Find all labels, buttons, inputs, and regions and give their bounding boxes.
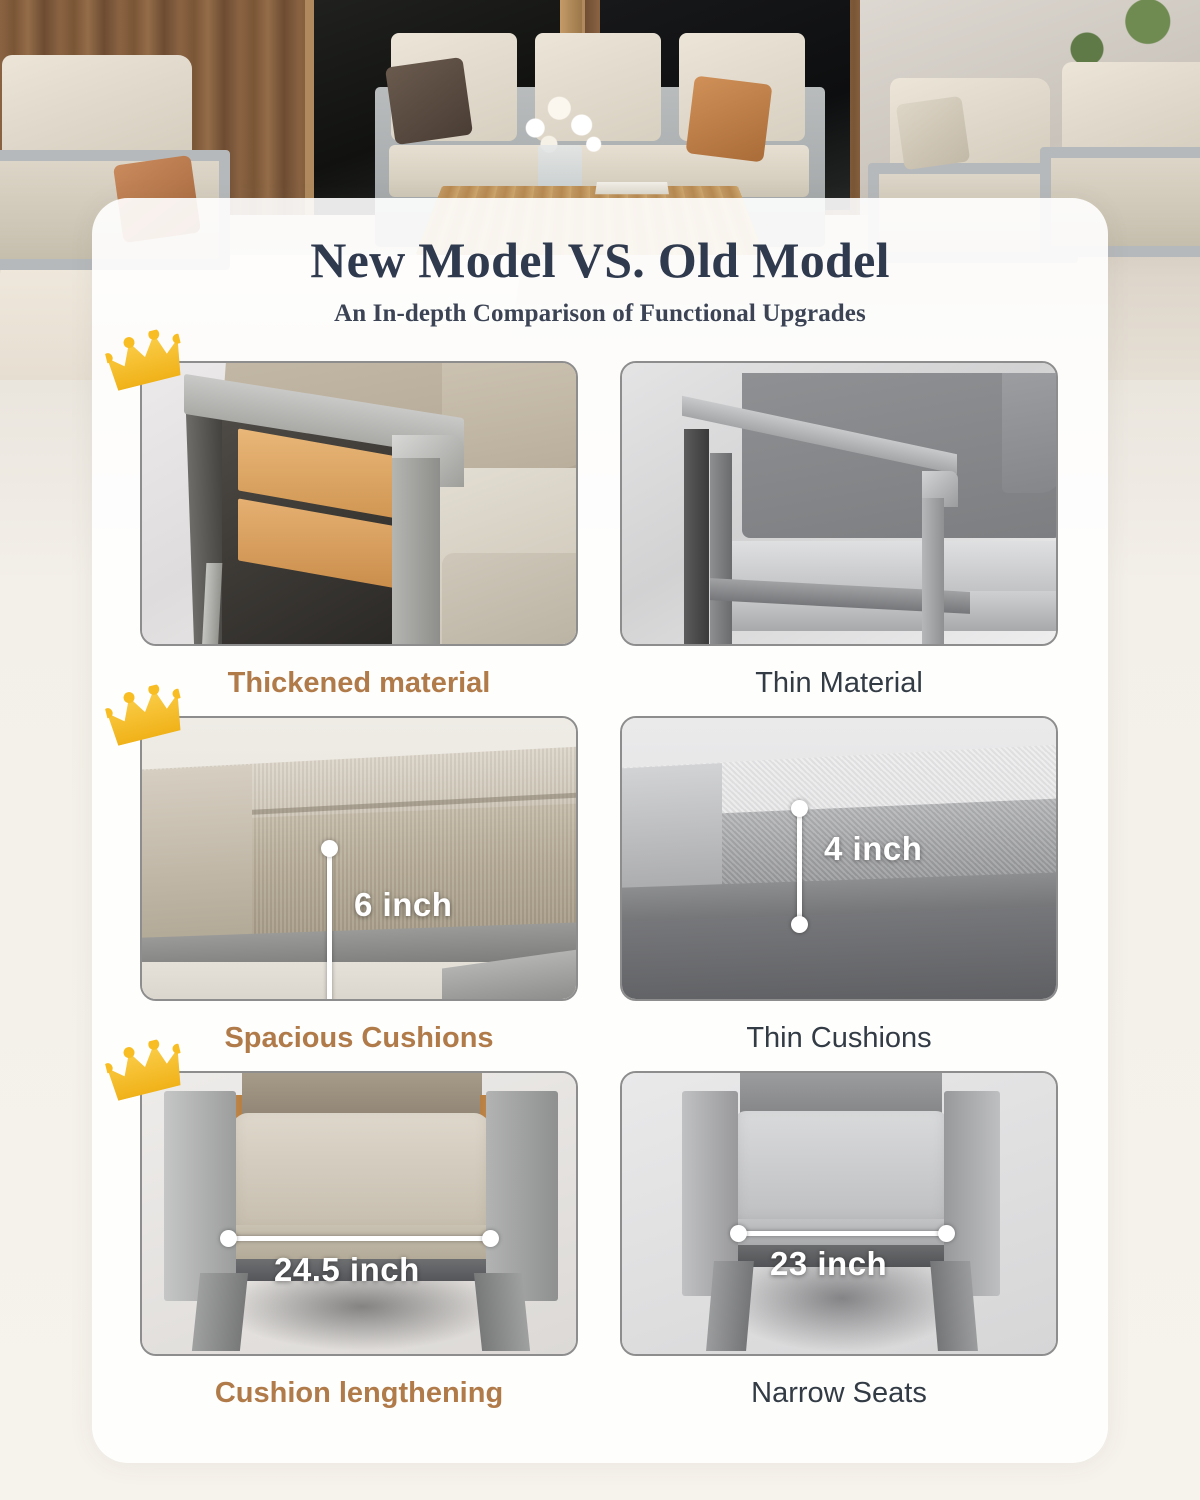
seat-cushion-front [226,1225,494,1263]
image-old-model-seat-front[interactable]: 23 inch [620,1071,1058,1356]
seat-cushion [232,1113,490,1241]
background-pillow-beige [896,96,971,171]
caption-new-seat-width: Cushion lengthening [140,1378,578,1410]
image-old-model-cushion[interactable]: 4 inch [620,716,1058,1001]
image-new-model-seat-front[interactable]: 24.5 inch [140,1071,578,1356]
comparison-row-seat-width: 24.5 inch Cushion lengthening [92,1071,1108,1426]
infographic-root: New Model VS. Old Model An In-depth Comp… [0,0,1200,1500]
comparison-grid: Thickened material [92,361,1108,1426]
cell-old-cushions[interactable]: 4 inch Thin Cushions [620,716,1058,1055]
chair-leg-right [930,1261,978,1351]
chair-leg-right [474,1273,530,1351]
backrest-cushion-right [1002,373,1058,493]
page-subtitle: An In-depth Comparison of Functional Upg… [92,300,1108,328]
chair-leg-left [706,1261,754,1351]
frame-apron [226,1259,494,1281]
aluminum-arm-right [486,1091,558,1301]
chair-leg-left [192,1273,248,1351]
drop-shadow [722,1263,962,1351]
seat-cushion-front [442,553,578,646]
aluminum-arm-post [392,458,440,646]
cushion-left-block [620,763,722,899]
frame-inner-bar [710,453,732,646]
image-new-model-arm[interactable] [140,361,578,646]
frame-apron [726,1245,956,1267]
aluminum-arm-post [922,498,944,646]
caption-new-material: Thickened material [140,668,578,700]
cell-new-cushions[interactable]: 6 inch Spacious Cushions [140,716,578,1055]
background-pillow-dark [385,57,473,145]
cell-old-seat-width[interactable]: 23 inch Narrow Seats [620,1071,1058,1410]
cell-old-material[interactable]: Thin Material [620,361,1058,700]
comparison-card: New Model VS. Old Model An In-depth Comp… [92,198,1108,1463]
cushion-left-block [140,765,252,941]
cell-new-material[interactable]: Thickened material [140,361,578,700]
caption-old-cushions: Thin Cushions [620,1023,1058,1055]
caption-new-cushions: Spacious Cushions [140,1023,578,1055]
frame-base [620,906,1058,1001]
seat-cushion [734,1111,948,1231]
comparison-row-cushions: 6 inch Spacious Cushions [92,716,1108,1071]
card-header: New Model VS. Old Model An In-depth Comp… [92,198,1108,328]
frame-rear-post [684,429,709,646]
image-old-model-arm[interactable] [620,361,1058,646]
image-new-model-cushion[interactable]: 6 inch [140,716,578,1001]
cell-new-seat-width[interactable]: 24.5 inch Cushion lengthening [140,1071,578,1410]
page-title: New Model VS. Old Model [92,232,1108,288]
comparison-row-material: Thickened material [92,361,1108,716]
background-pillow-orange [686,76,773,163]
caption-old-material: Thin Material [620,668,1058,700]
aluminum-arm-left [164,1091,236,1301]
magazine [595,182,669,194]
drop-shadow [222,1277,502,1351]
caption-old-seat-width: Narrow Seats [620,1378,1058,1410]
